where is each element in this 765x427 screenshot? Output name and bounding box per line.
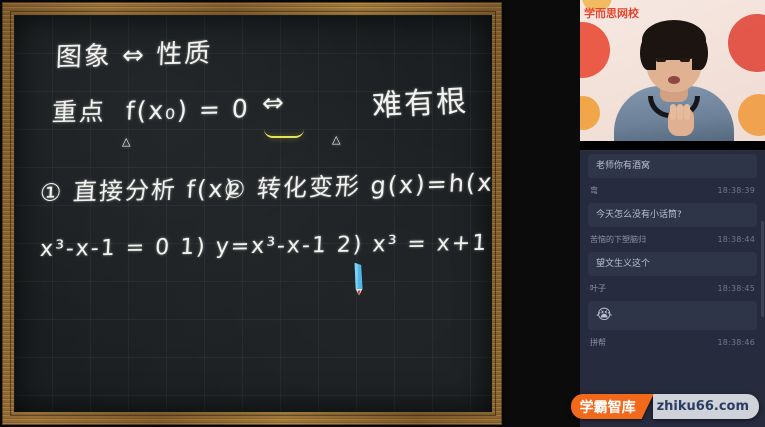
chat-timestamp: 18:38:45: [717, 284, 755, 293]
board-line-3-a: ① 直接分析 f(x): [39, 169, 237, 209]
watermark-badge: 学霸智库 zhiku66.com: [571, 394, 759, 419]
chat-username: 弯: [590, 185, 598, 196]
chat-message-meta: 弯 18:38:39: [588, 178, 757, 199]
board-line-2-arrow: ⇔: [261, 88, 287, 119]
chat-top-divider: [580, 141, 765, 150]
board-line-4-equations: x³-x-1 = 0 1) y=x³-x-1 2) x³ = x+1: [39, 231, 489, 262]
teacher-figure: [580, 0, 765, 141]
lesson-player-window: 图象 ⇔ 性质 重点 f(x₀) = 0 ⇔ 难有根 凸 △ △ ① 直接分析 …: [0, 0, 765, 427]
teacher-finger: [670, 104, 676, 120]
chat-timestamp: 18:38:39: [717, 186, 755, 195]
triangle-mark-1: △: [122, 135, 130, 148]
chat-scrollbar[interactable]: [761, 221, 764, 317]
teacher-eyebrow-right: [679, 50, 691, 53]
watermark-brand: 学霸智库: [571, 394, 642, 419]
teacher-finger: [684, 104, 690, 120]
chat-panel[interactable]: 老师你有酒窝 弯 18:38:39 今天怎么没有小话筒? 苦恼的下塑脑归 18:…: [580, 141, 765, 427]
chat-message-list[interactable]: 老师你有酒窝 弯 18:38:39 今天怎么没有小话筒? 苦恼的下塑脑归 18:…: [580, 150, 765, 427]
teacher-finger: [677, 104, 683, 120]
teacher-mouth: [668, 76, 680, 84]
chat-message-bubble: 老师你有酒窝: [588, 154, 757, 178]
platform-logo: 学而思网校: [584, 5, 639, 21]
chat-username: 叶子: [590, 283, 606, 294]
triangle-mark-2: △: [332, 133, 340, 146]
right-panel: 学而思网校 老师你有酒窝 弯 18:38:39 今天怎么没有小话筒? 苦恼的下塑…: [580, 0, 765, 427]
pencil-cursor: [339, 260, 375, 296]
teacher-eye-right: [680, 58, 690, 62]
chat-message-bubble: 今天怎么没有小话筒?: [588, 203, 757, 227]
blackboard-wooden-frame: 图象 ⇔ 性质 重点 f(x₀) = 0 ⇔ 难有根 凸 △ △ ① 直接分析 …: [2, 2, 502, 425]
teacher-eyebrow-left: [655, 50, 667, 53]
teacher-hair-right: [692, 36, 708, 70]
watermark-site: zhiku66.com: [653, 394, 759, 419]
chat-message-bubble: 望文生义这个: [588, 252, 757, 276]
chat-message-meta: 苦恼的下塑脑归 18:38:44: [588, 227, 757, 248]
teacher-hair-left: [640, 36, 656, 70]
whiteboard-area: 图象 ⇔ 性质 重点 f(x₀) = 0 ⇔ 难有根 凸 △ △ ① 直接分析 …: [0, 0, 580, 427]
chalkboard-surface[interactable]: 图象 ⇔ 性质 重点 f(x₀) = 0 ⇔ 难有根 凸 △ △ ① 直接分析 …: [14, 15, 492, 412]
teacher-eye-left: [656, 58, 666, 62]
chat-timestamp: 18:38:46: [717, 338, 755, 347]
board-line-2-right: 难有根: [371, 76, 469, 125]
board-line-1: 图象 ⇔ 性质: [55, 33, 213, 74]
teacher-video-feed[interactable]: 学而思网校: [580, 0, 765, 141]
board-line-3-b: ② 转化变形 g(x)=h(x): [223, 162, 492, 205]
chat-timestamp: 18:38:44: [717, 235, 755, 244]
chat-username: 拼帮: [590, 337, 606, 348]
watermark-notch: [642, 394, 654, 419]
yellow-underline-mark: [264, 129, 304, 138]
board-line-2-left: 重点 f(x₀) = 0: [51, 89, 251, 129]
chat-message-meta: 叶子 18:38:45: [588, 276, 757, 297]
chat-message-bubble-emoji: 😭: [588, 301, 757, 330]
chat-username: 苦恼的下塑脑归: [590, 234, 646, 245]
chat-message-meta: 拼帮 18:38:46: [588, 330, 757, 351]
